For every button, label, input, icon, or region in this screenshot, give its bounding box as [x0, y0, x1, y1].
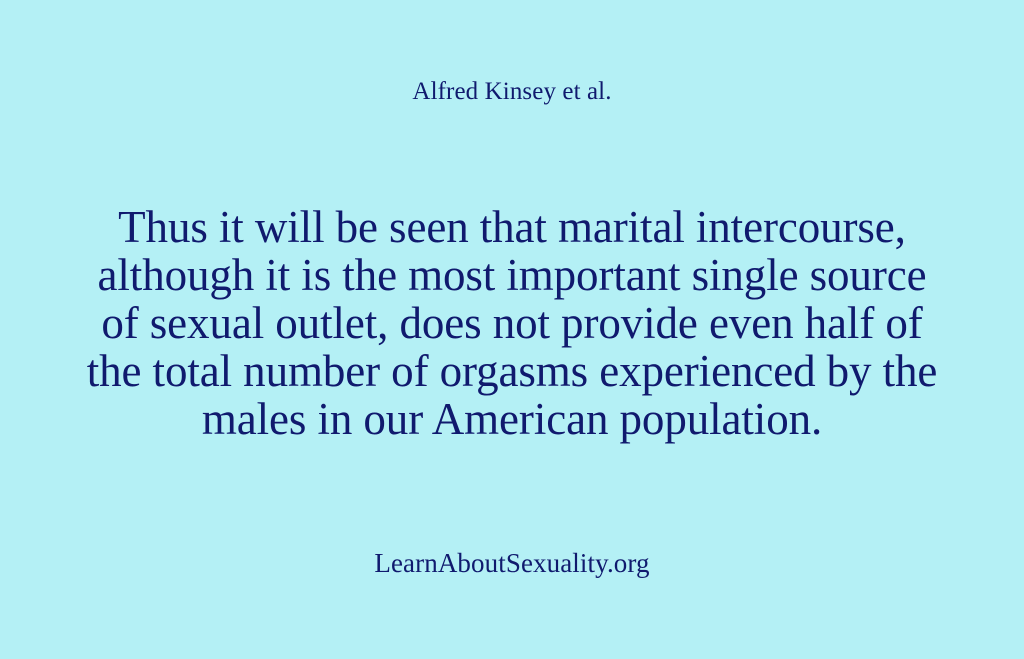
quote-line: of sexual outlet, does not provide even … [47, 299, 977, 347]
quote-line: although it is the most important single… [47, 251, 977, 299]
quote-attribution: Alfred Kinsey et al. [0, 76, 1024, 108]
quote-line: males in our American population. [47, 395, 977, 443]
quote-card: Alfred Kinsey et al. Thus it will be see… [0, 0, 1024, 659]
quote-text-block: Thus it will be seen that marital interc… [47, 203, 977, 443]
quote-line: Thus it will be seen that marital interc… [47, 203, 977, 251]
quote-line: the total number of orgasms experienced … [47, 347, 977, 395]
site-name-footer: LearnAboutSexuality.org [0, 546, 1024, 580]
